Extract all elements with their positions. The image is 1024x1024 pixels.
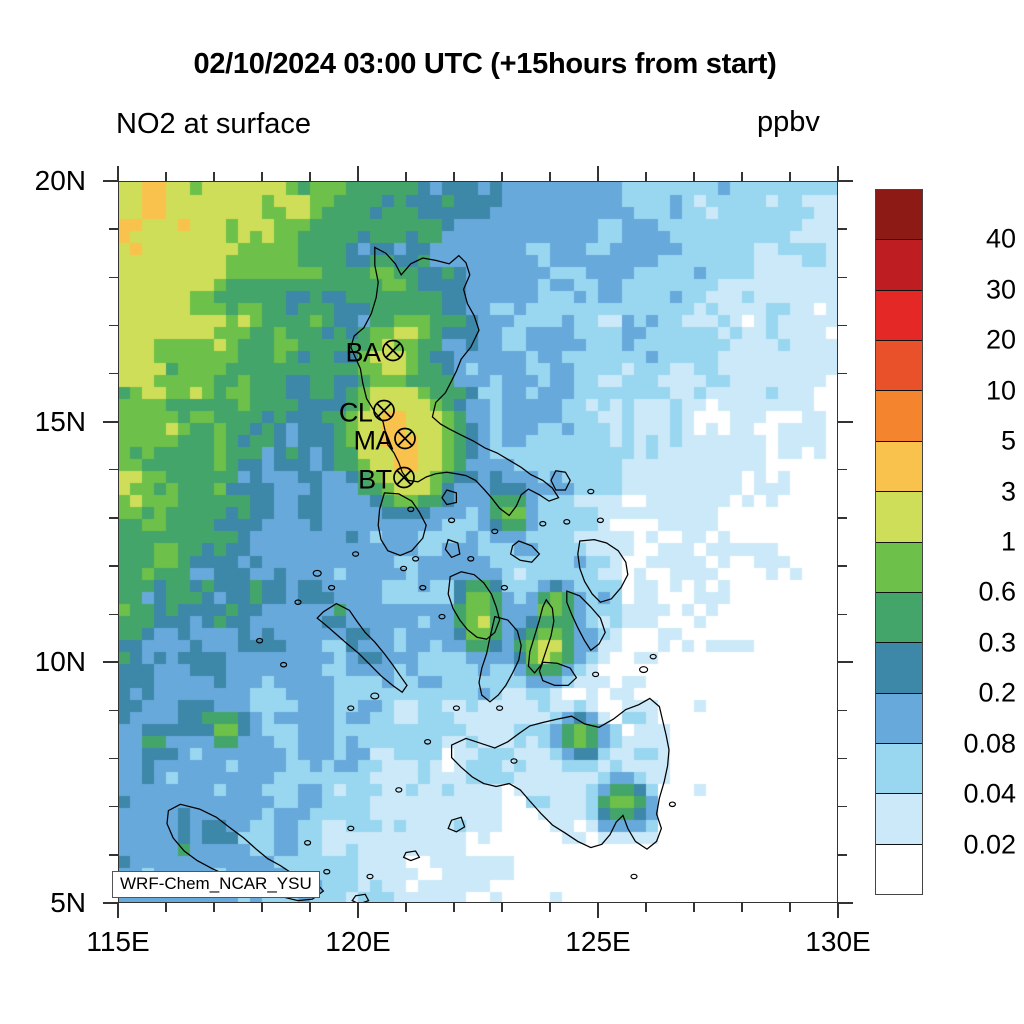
y-tick	[109, 277, 118, 278]
y-tick-right	[838, 758, 847, 759]
y-tick	[109, 469, 118, 470]
x-tick-top	[597, 166, 599, 181]
x-axis-label: 125E	[565, 926, 630, 958]
y-axis-label: 5N	[0, 887, 86, 919]
y-tick	[109, 614, 118, 615]
figure-title: 02/10/2024 03:00 UTC (+15hours from star…	[0, 48, 970, 81]
x-tick	[789, 903, 790, 912]
y-tick-right	[838, 180, 853, 182]
y-tick	[109, 228, 118, 229]
x-tick-top	[117, 166, 119, 181]
figure-root: 02/10/2024 03:00 UTC (+15hours from star…	[0, 0, 1024, 1024]
x-tick	[405, 903, 406, 912]
station-marker-bt[interactable]	[391, 465, 417, 496]
y-tick-right	[838, 565, 847, 566]
y-tick-right	[838, 806, 847, 807]
y-axis-label: 15N	[0, 406, 86, 438]
station-label-bt: BT	[358, 465, 392, 496]
y-tick-right	[838, 902, 853, 904]
colorbar-tick-label: 30	[986, 274, 1016, 305]
model-watermark: WRF-Chem_NCAR_YSU	[112, 871, 320, 898]
y-tick	[103, 180, 118, 182]
x-tick-top	[357, 166, 359, 181]
y-axis-label: 20N	[0, 165, 86, 197]
colorbar-band	[876, 190, 922, 240]
colorbar-tick-label: 3	[1001, 476, 1016, 507]
x-tick	[597, 903, 599, 918]
x-tick-top	[309, 172, 310, 181]
x-tick	[309, 903, 310, 912]
colorbar-band	[876, 694, 922, 744]
colorbar-tick-label: 10	[986, 375, 1016, 406]
y-axis-label: 10N	[0, 646, 86, 678]
circle-cross-icon	[380, 338, 406, 364]
colorbar-tick-label: 0.02	[963, 829, 1016, 860]
y-tick	[109, 710, 118, 711]
circle-cross-icon	[371, 398, 397, 424]
y-tick-right	[838, 517, 847, 518]
circle-cross-icon	[391, 465, 417, 491]
y-tick-right	[838, 710, 847, 711]
colorbar-band	[876, 291, 922, 341]
x-tick	[549, 903, 550, 912]
y-tick	[109, 854, 118, 855]
y-tick-right	[838, 469, 847, 470]
y-tick	[109, 373, 118, 374]
x-tick	[645, 903, 646, 912]
x-tick	[213, 903, 214, 912]
y-tick-right	[838, 614, 847, 615]
x-tick-top	[549, 172, 550, 181]
x-tick-top	[741, 172, 742, 181]
variable-label: NO2 at surface	[116, 108, 311, 141]
colorbar-tick-label: 1	[1001, 527, 1016, 558]
colorbar-band	[876, 845, 922, 894]
y-tick	[109, 565, 118, 566]
x-tick-top	[405, 172, 406, 181]
colorbar-tick-label: 0.2	[978, 678, 1016, 709]
x-axis-label: 115E	[86, 926, 149, 958]
map-plot-area[interactable]: BACLMABT	[118, 181, 838, 903]
station-marker-ma[interactable]	[392, 425, 418, 456]
x-tick-top	[789, 172, 790, 181]
x-tick	[501, 903, 502, 912]
x-axis-label: 120E	[325, 926, 390, 958]
y-tick	[109, 806, 118, 807]
x-tick-top	[693, 172, 694, 181]
x-tick-top	[645, 172, 646, 181]
colorbar-band	[876, 543, 922, 593]
x-tick	[453, 903, 454, 912]
y-tick	[103, 661, 118, 663]
y-tick	[103, 902, 118, 904]
y-tick-right	[838, 421, 853, 423]
x-tick	[261, 903, 262, 912]
x-tick-top	[213, 172, 214, 181]
colorbar-tick-label: 0.04	[963, 779, 1016, 810]
station-marker-ba[interactable]	[380, 338, 406, 369]
x-tick-top	[165, 172, 166, 181]
units-label: ppbv	[757, 106, 820, 139]
x-tick	[837, 903, 839, 918]
x-axis-label: 130E	[805, 926, 870, 958]
station-label-ba: BA	[346, 338, 381, 369]
colorbar-band	[876, 492, 922, 542]
y-tick-right	[838, 277, 847, 278]
colorbar-band	[876, 744, 922, 794]
colorbar-tick-label: 5	[1001, 426, 1016, 457]
station-marker-layer: BACLMABT	[118, 181, 838, 903]
colorbar-tick-label: 0.3	[978, 627, 1016, 658]
colorbar-band	[876, 442, 922, 492]
y-tick-right	[838, 325, 847, 326]
colorbar-band	[876, 391, 922, 441]
y-tick	[103, 421, 118, 423]
station-label-ma: MA	[354, 425, 394, 456]
x-tick-top	[837, 166, 839, 181]
station-label-cl: CL	[339, 398, 373, 429]
x-tick-top	[261, 172, 262, 181]
y-tick-right	[838, 373, 847, 374]
x-tick-top	[501, 172, 502, 181]
x-tick	[165, 903, 166, 912]
circle-cross-icon	[392, 425, 418, 451]
colorbar-band	[876, 643, 922, 693]
colorbar-band	[876, 794, 922, 844]
colorbar-band	[876, 240, 922, 290]
y-tick	[109, 325, 118, 326]
y-tick-right	[838, 854, 847, 855]
colorbar-tick-label: 0.6	[978, 577, 1016, 608]
colorbar-tick-label: 40	[986, 224, 1016, 255]
y-tick-right	[838, 661, 853, 663]
x-tick	[693, 903, 694, 912]
y-tick-right	[838, 228, 847, 229]
y-tick	[109, 517, 118, 518]
colorbar-band	[876, 341, 922, 391]
colorbar-band	[876, 593, 922, 643]
x-tick	[117, 903, 119, 918]
colorbar-tick-label: 0.08	[963, 728, 1016, 759]
y-tick	[109, 758, 118, 759]
station-marker-cl[interactable]	[371, 398, 397, 429]
colorbar-tick-label: 20	[986, 325, 1016, 356]
x-tick-top	[453, 172, 454, 181]
colorbar[interactable]	[875, 189, 923, 895]
x-tick	[357, 903, 359, 918]
colorbar-labels: 403020105310.60.30.20.080.040.02	[924, 189, 1020, 895]
x-tick	[741, 903, 742, 912]
